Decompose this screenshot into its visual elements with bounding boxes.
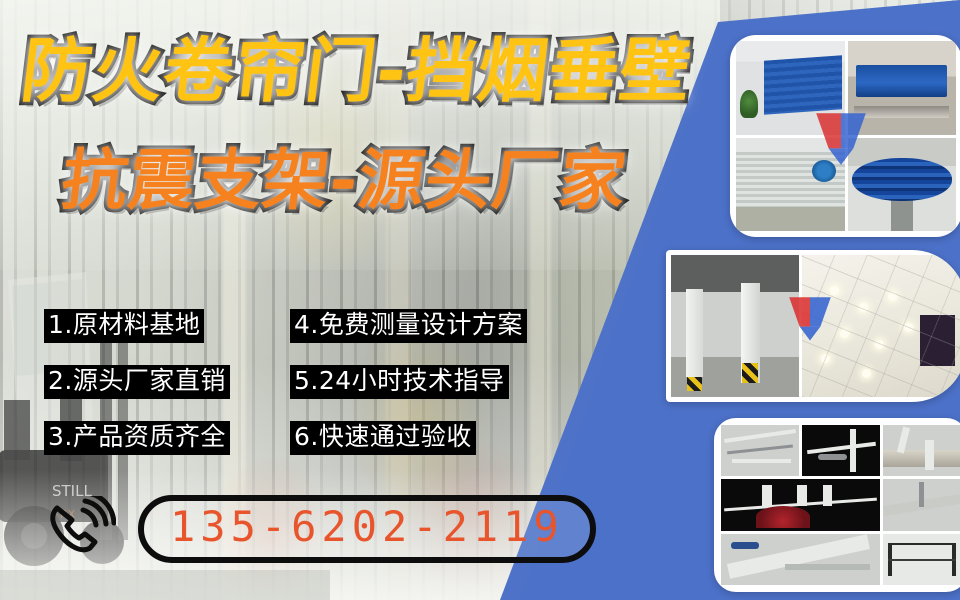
collage-fire-shutter-doors [730, 35, 960, 237]
advertisement-banner: STILL RX 防火卷帘门-挡烟垂壁 抗震支架-源头厂家 1.原材料基地 4.… [0, 0, 960, 600]
collage-seismic-bracing [714, 418, 960, 592]
feature-label: 5.24小时技术指导 [290, 365, 509, 399]
photo-brace-ceiling-pipes [721, 425, 799, 476]
feature-label: 3.产品资质齐全 [44, 421, 230, 455]
photo-brace-white-panel [721, 534, 880, 585]
photo-grey-rolling-shutter-door [736, 138, 845, 232]
feature-item-5: 5.24小时技术指导 [290, 354, 550, 410]
phone-call-icon [44, 496, 116, 562]
headline-primary: 防火卷帘门-挡烟垂壁 [18, 36, 696, 106]
feature-list: 1.原材料基地 4.免费测量设计方案 2.源头厂家直销 5.24小时技术指导 3… [44, 298, 564, 466]
phone-number-box[interactable]: 135-6202-2119 [138, 495, 596, 563]
photo-brace-ceiling-duct [883, 479, 960, 530]
feature-label: 2.源头厂家直销 [44, 365, 230, 399]
photo-blue-rolling-shutter-door [736, 41, 845, 135]
photo-blue-coil-roll [848, 138, 957, 232]
feature-label: 1.原材料基地 [44, 309, 204, 343]
photo-brace-dark-frame [802, 425, 880, 476]
photo-parking-garage-columns [671, 255, 799, 397]
photo-brace-fan-dark [721, 479, 880, 530]
feature-item-2: 2.源头厂家直销 [44, 354, 276, 410]
feature-item-4: 4.免费测量设计方案 [290, 298, 550, 354]
feature-label: 6.快速通过验收 [290, 421, 476, 455]
phone-number: 135-6202-2119 [170, 503, 564, 551]
photo-suspended-ceiling-lights [802, 255, 960, 397]
contact-phone-row[interactable]: 135-6202-2119 [44, 495, 596, 563]
feature-label: 4.免费测量设计方案 [290, 309, 527, 343]
headline-secondary: 抗震支架-源头厂家 [58, 148, 631, 214]
feature-item-1: 1.原材料基地 [44, 298, 276, 354]
photo-shutter-production-machine [848, 41, 957, 135]
feature-item-3: 3.产品资质齐全 [44, 410, 276, 466]
photo-brace-pipe-clamp [883, 425, 960, 476]
collage-installation-sites [666, 250, 960, 402]
photo-brace-steel-frame [883, 534, 960, 585]
feature-item-6: 6.快速通过验收 [290, 410, 550, 466]
